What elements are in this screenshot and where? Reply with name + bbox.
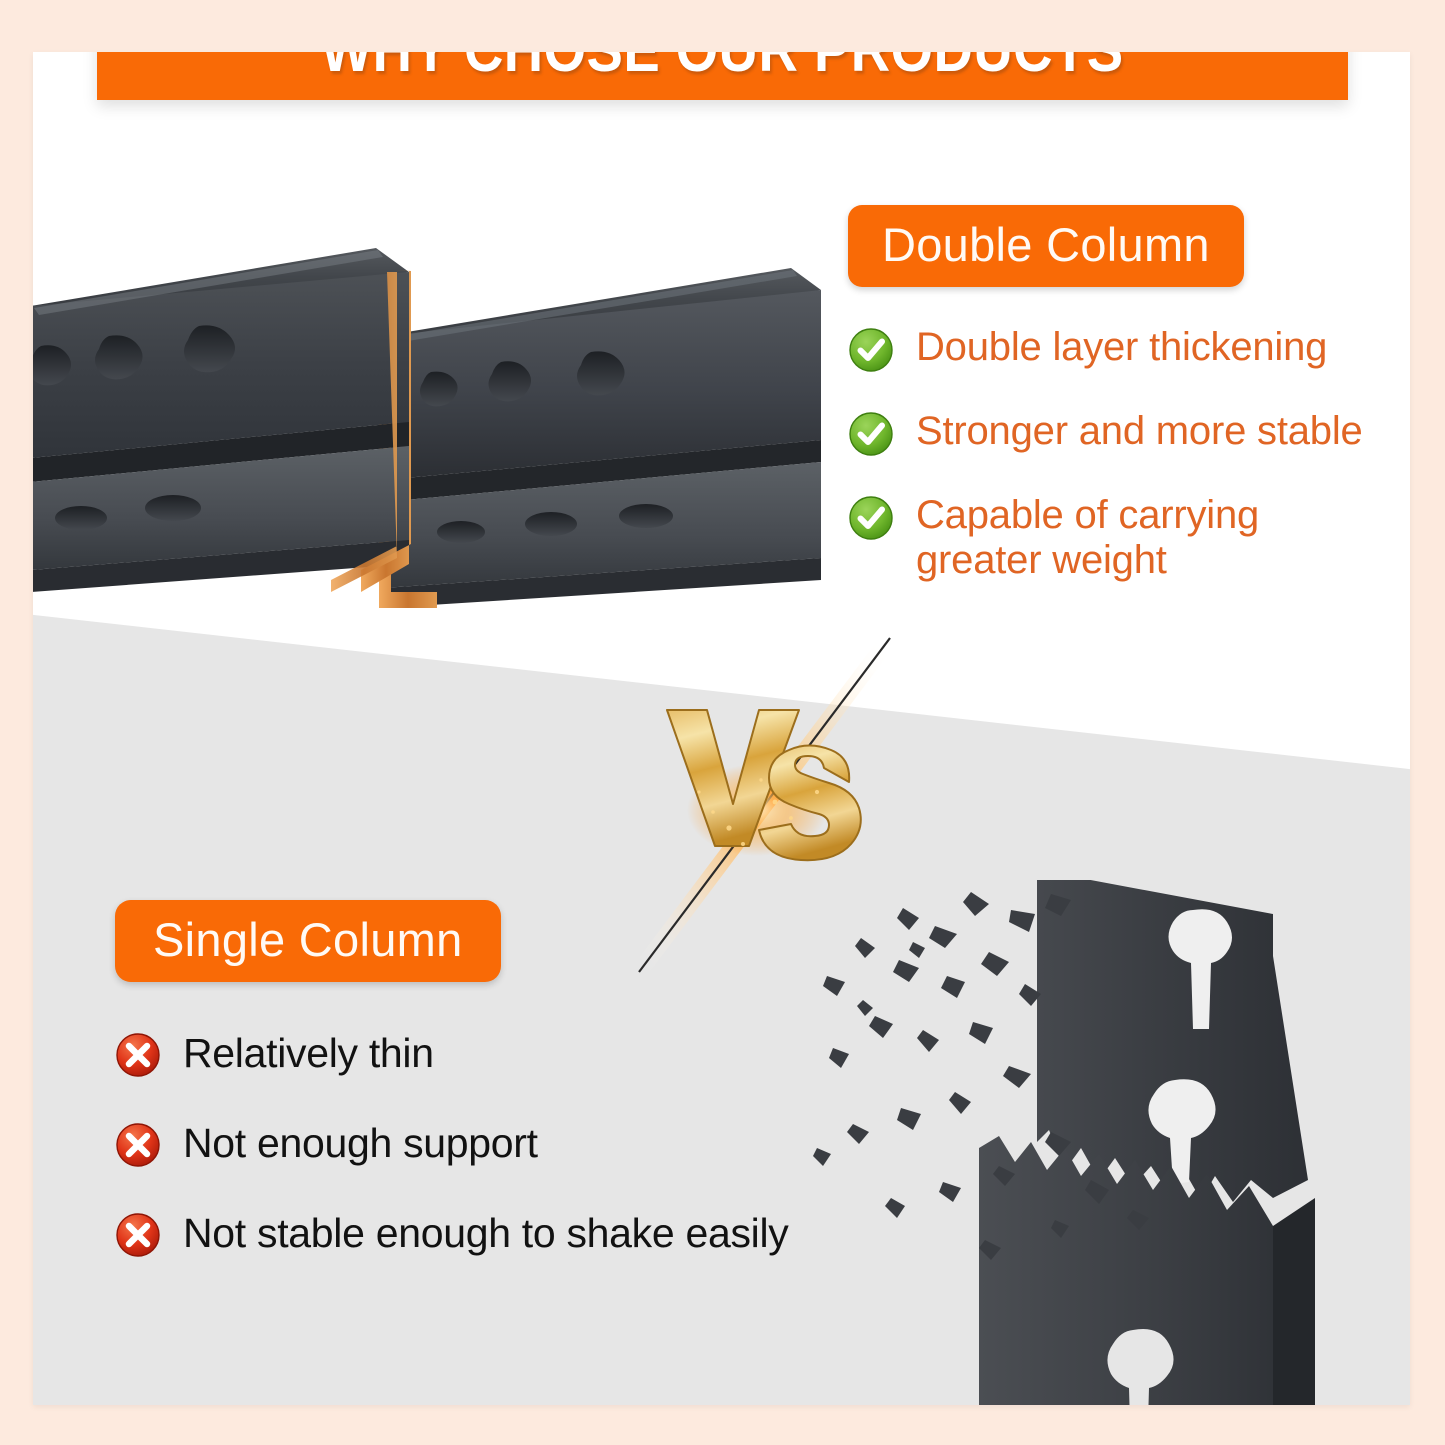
post-upper-fragment	[1037, 880, 1308, 1202]
feature-item: Capable of carrying greater weight	[848, 493, 1408, 583]
double-column-feature-list: Double layer thickening Stronger and mor…	[848, 325, 1408, 583]
single-column-heading-label: Single Column	[153, 913, 463, 966]
check-circle-icon	[848, 327, 894, 373]
cross-circle-icon	[115, 1212, 161, 1258]
feature-label: Double layer thickening	[916, 325, 1327, 370]
poster-canvas: Double Column	[33, 52, 1410, 1405]
drawback-item: Relatively thin	[115, 1030, 875, 1078]
steel-rail-back	[379, 268, 821, 608]
check-circle-icon	[848, 495, 894, 541]
feature-item: Stronger and more stable	[848, 409, 1408, 457]
shattered-post-illustration	[803, 880, 1410, 1405]
header-banner: WHY CHOSE OUR PRODUCTS	[97, 52, 1348, 100]
drawback-item: Not enough support	[115, 1120, 875, 1168]
double-column-steel-rails-photo	[33, 140, 821, 610]
double-column-heading-label: Double Column	[882, 218, 1210, 271]
single-column-drawback-list: Relatively thin Not enough support	[115, 1030, 875, 1258]
drawback-label: Relatively thin	[183, 1031, 434, 1076]
double-column-heading-pill: Double Column	[848, 205, 1244, 287]
feature-label: Stronger and more stable	[916, 409, 1363, 454]
drawback-item: Not stable enough to shake easily	[115, 1210, 875, 1258]
feature-item: Double layer thickening	[848, 325, 1408, 373]
double-column-panel: Double Column	[848, 205, 1408, 583]
steel-rail-front	[33, 248, 411, 592]
single-column-panel: Single Column	[115, 900, 875, 1258]
drawback-label: Not stable enough to shake easily	[183, 1211, 789, 1256]
feature-label: Capable of carrying greater weight	[916, 493, 1316, 583]
page-title: WHY CHOSE OUR PRODUCTS	[321, 52, 1124, 86]
cross-circle-icon	[115, 1122, 161, 1168]
product-comparison-poster: Double Column	[0, 0, 1445, 1445]
single-column-heading-pill: Single Column	[115, 900, 501, 982]
check-circle-icon	[848, 411, 894, 457]
broken-single-column-post-photo	[803, 880, 1410, 1405]
cross-circle-icon	[115, 1032, 161, 1078]
steel-rails-illustration	[33, 140, 821, 610]
drawback-label: Not enough support	[183, 1121, 538, 1166]
